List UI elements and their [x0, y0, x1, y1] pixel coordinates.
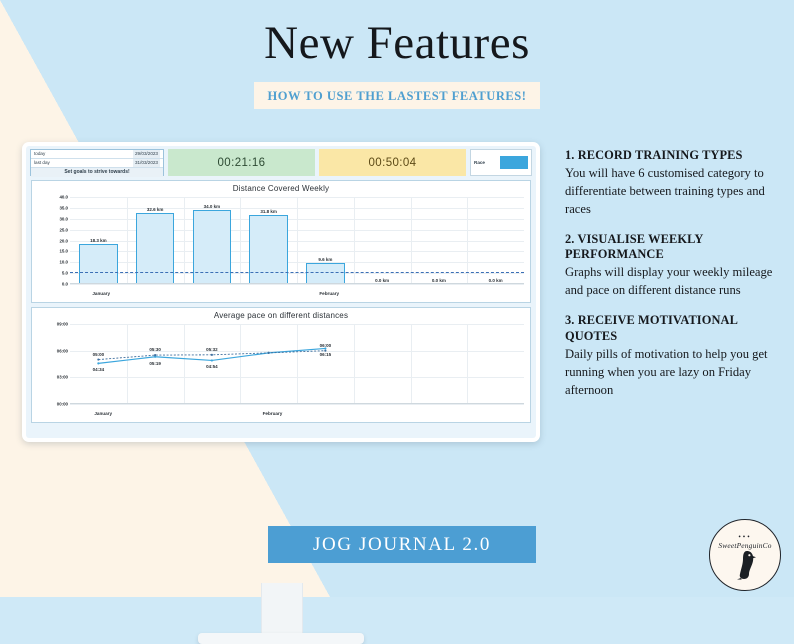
product-badge-label: JOG JOURNAL 2.0 — [313, 534, 491, 556]
goal-panel[interactable]: today 29/03/2023 last day 31/03/2023 Set… — [30, 149, 164, 176]
page-title: New Features — [0, 18, 794, 69]
goal-row-label: today — [34, 150, 45, 158]
y-axis-tick: 0.0 — [34, 282, 68, 287]
y-axis-tick: 10.0 — [34, 260, 68, 265]
feature-item: 2. VISUALISE WEEKLY PERFORMANCE Graphs w… — [565, 232, 787, 301]
y-axis-tick: 09:00 — [34, 322, 68, 327]
line-data-label: 06:15 — [320, 352, 332, 357]
monitor-stand-neck — [261, 583, 303, 635]
y-axis-tick: 20.0 — [34, 238, 68, 243]
bar — [136, 213, 175, 284]
y-axis-tick: 40.0 — [34, 195, 68, 200]
line-chart-card: Average pace on different distances 04:3… — [31, 307, 531, 423]
y-axis-tick: 25.0 — [34, 227, 68, 232]
bar-data-label: 32.6 km — [147, 207, 164, 212]
timer-green: 00:21:16 — [168, 149, 315, 176]
penguin-icon — [732, 550, 758, 580]
x-axis — [70, 403, 524, 404]
feature-body: Graphs will display your weekly mileage … — [565, 264, 787, 300]
feature-item: 3. RECEIVE MOTIVATIONAL QUOTES Daily pil… — [565, 313, 787, 399]
feature-heading: 2. VISUALISE WEEKLY PERFORMANCE — [565, 232, 787, 264]
logo-dots: ••• — [738, 534, 751, 540]
feature-list: 1. RECORD TRAINING TYPES You will have 6… — [565, 148, 787, 412]
data-point — [211, 359, 213, 361]
grid-line-vertical — [467, 197, 468, 284]
line-data-label: 04:34 — [93, 367, 105, 372]
x-axis — [70, 283, 524, 284]
line-data-label: 06:00 — [320, 343, 332, 348]
y-axis-tick: 03:00 — [34, 375, 68, 380]
data-point — [211, 354, 213, 356]
data-point — [324, 347, 326, 349]
monitor-stand-base — [198, 633, 364, 644]
monitor-mockup: today 29/03/2023 last day 31/03/2023 Set… — [22, 142, 540, 442]
feature-body: Daily pills of motivation to help you ge… — [565, 346, 787, 400]
y-axis-tick: 35.0 — [34, 205, 68, 210]
grid-line-vertical — [411, 197, 412, 284]
logo-brand-text: SweetPenguinCo — [718, 541, 771, 550]
goal-row: today 29/03/2023 — [31, 150, 163, 159]
subtitle-banner: HOW TO USE THE LASTEST FEATURES! — [254, 82, 539, 109]
data-point — [268, 352, 270, 354]
race-legend-swatch — [500, 156, 528, 169]
grid-line-vertical — [240, 197, 241, 284]
brand-logo: ••• SweetPenguinCo — [709, 519, 781, 591]
timer-amber: 00:50:04 — [319, 149, 466, 176]
bar-data-label: 34.0 km — [204, 204, 221, 209]
spreadsheet-toolbar: today 29/03/2023 last day 31/03/2023 Set… — [26, 146, 536, 176]
feature-heading: 1. RECORD TRAINING TYPES — [565, 148, 787, 164]
bar-chart-title: Distance Covered Weekly — [32, 181, 530, 194]
bar — [79, 244, 118, 284]
goal-row-value: 31/03/2023 — [133, 159, 160, 167]
grid-line — [70, 404, 524, 405]
monitor-screen: today 29/03/2023 last day 31/03/2023 Set… — [26, 146, 536, 438]
line-series-group — [70, 324, 524, 404]
y-axis-tick: 15.0 — [34, 249, 68, 254]
monitor-bezel: today 29/03/2023 last day 31/03/2023 Set… — [22, 142, 540, 442]
line-data-label: 05:00 — [93, 352, 105, 357]
line-data-label: 05:32 — [206, 347, 218, 352]
data-point — [97, 362, 99, 364]
page-subtitle: HOW TO USE THE LASTEST FEATURES! — [267, 89, 526, 103]
x-axis-tick: January — [94, 411, 112, 416]
data-point — [324, 350, 326, 352]
goal-row-label: last day — [34, 159, 50, 167]
grid-line-vertical — [354, 197, 355, 284]
product-badge: JOG JOURNAL 2.0 — [268, 526, 536, 563]
goal-row-value: 29/03/2023 — [133, 150, 160, 158]
grid-line — [70, 284, 524, 285]
grid-line-vertical — [184, 197, 185, 284]
bar — [249, 215, 288, 284]
race-legend: Race — [470, 149, 532, 176]
x-axis-tick: January — [92, 291, 110, 296]
goal-row: last day 31/03/2023 — [31, 159, 163, 168]
line-data-label: 05:19 — [149, 361, 161, 366]
feature-item: 1. RECORD TRAINING TYPES You will have 6… — [565, 148, 787, 219]
bar-data-label: 31.8 km — [260, 209, 277, 214]
bar — [306, 263, 345, 284]
line-data-label: 05:30 — [149, 347, 161, 352]
bar-chart-plot: 18.3 km32.6 km34.0 km31.8 km9.6 km0.0 km… — [70, 197, 524, 284]
line-chart-plot: 04:3405:1904:5406:1505:0005:3005:3206:00… — [70, 324, 524, 404]
goal-footer-text: Set goals to strive towards! — [31, 168, 163, 177]
data-point — [154, 354, 156, 356]
feature-body: You will have 6 customised category to d… — [565, 165, 787, 219]
x-axis-tick: February — [263, 411, 283, 416]
x-axis-tick: February — [319, 291, 339, 296]
data-point — [97, 358, 99, 360]
y-axis-tick: 06:00 — [34, 348, 68, 353]
feature-heading: 3. RECEIVE MOTIVATIONAL QUOTES — [565, 313, 787, 345]
line-data-label: 04:54 — [206, 364, 218, 369]
bar-data-label: 9.6 km — [318, 257, 332, 262]
grid-line-vertical — [297, 197, 298, 284]
line-chart-title: Average pace on different distances — [32, 308, 530, 321]
grid-line-vertical — [127, 197, 128, 284]
bar-data-label: 18.3 km — [90, 238, 107, 243]
y-axis-tick: 30.0 — [34, 216, 68, 221]
y-axis-tick: 5.0 — [34, 271, 68, 276]
header: New Features HOW TO USE THE LASTEST FEAT… — [0, 18, 794, 109]
bar-chart-card: Distance Covered Weekly 18.3 km32.6 km34… — [31, 180, 531, 303]
goal-threshold-line — [70, 272, 524, 273]
y-axis-tick: 00:00 — [34, 402, 68, 407]
race-legend-label: Race — [474, 160, 485, 165]
